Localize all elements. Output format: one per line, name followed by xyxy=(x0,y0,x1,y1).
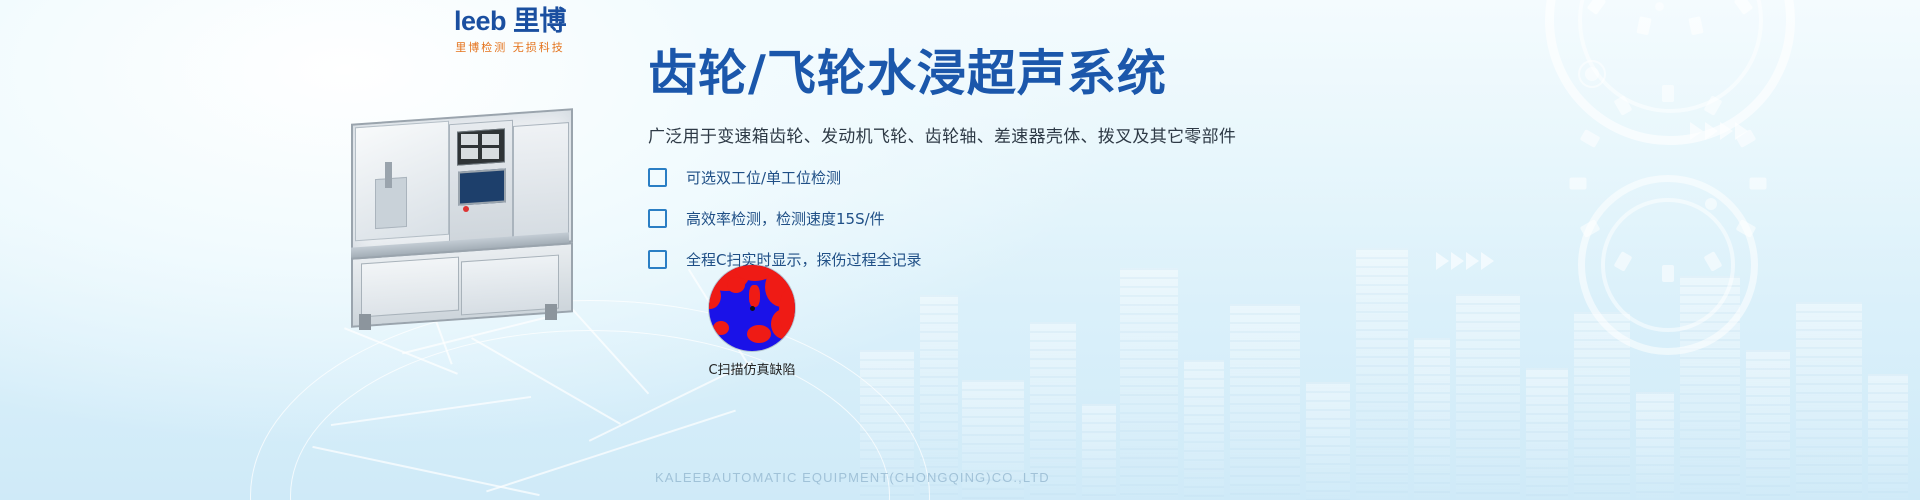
checkbox-icon[interactable] xyxy=(648,168,667,187)
cscan-sample: C扫描仿真缺陷 xyxy=(672,265,832,378)
chevron-decoration-upper xyxy=(1690,122,1760,142)
product-image xyxy=(345,100,600,335)
promo-banner: leeb 里博 里博检测 无损科技 齿轮/飞轮水浸超声系统 广泛用于变速箱齿轮、… xyxy=(0,0,1920,500)
gear-decoration-top xyxy=(1545,0,1795,145)
hero-subtitle: 广泛用于变速箱齿轮、发动机飞轮、齿轮轴、差速器壳体、拨叉及其它零部件 xyxy=(648,122,1288,147)
brand-logo[interactable]: leeb 里博 里博检测 无损科技 xyxy=(430,8,590,55)
company-watermark: KALEEBAUTOMATIC EQUIPMENT(CHONGQING)CO.,… xyxy=(655,470,1050,485)
logo-wordmark: leeb 里博 xyxy=(430,8,590,35)
logo-slogan: 里博检测 无损科技 xyxy=(430,39,590,55)
feature-label: 可选双工位/单工位检测 xyxy=(686,167,841,188)
dot-decoration-top xyxy=(1655,2,1664,11)
feature-item-2: 高效率检测，检测速度15S/件 xyxy=(648,208,1288,229)
cscan-center-marker xyxy=(750,306,755,311)
feature-label: 高效率检测，检测速度15S/件 xyxy=(686,208,885,229)
checkbox-icon[interactable] xyxy=(648,250,667,269)
cscan-disc-image xyxy=(709,265,795,351)
cscan-caption: C扫描仿真缺陷 xyxy=(672,359,832,378)
ring-dot-decoration-upper xyxy=(1578,60,1606,88)
page-title: 齿轮/飞轮水浸超声系统 xyxy=(648,48,1288,101)
hero-copy: 齿轮/飞轮水浸超声系统 广泛用于变速箱齿轮、发动机飞轮、齿轮轴、差速器壳体、拨叉… xyxy=(648,48,1288,270)
checkbox-icon[interactable] xyxy=(648,209,667,228)
feature-item-1: 可选双工位/单工位检测 xyxy=(648,167,1288,188)
